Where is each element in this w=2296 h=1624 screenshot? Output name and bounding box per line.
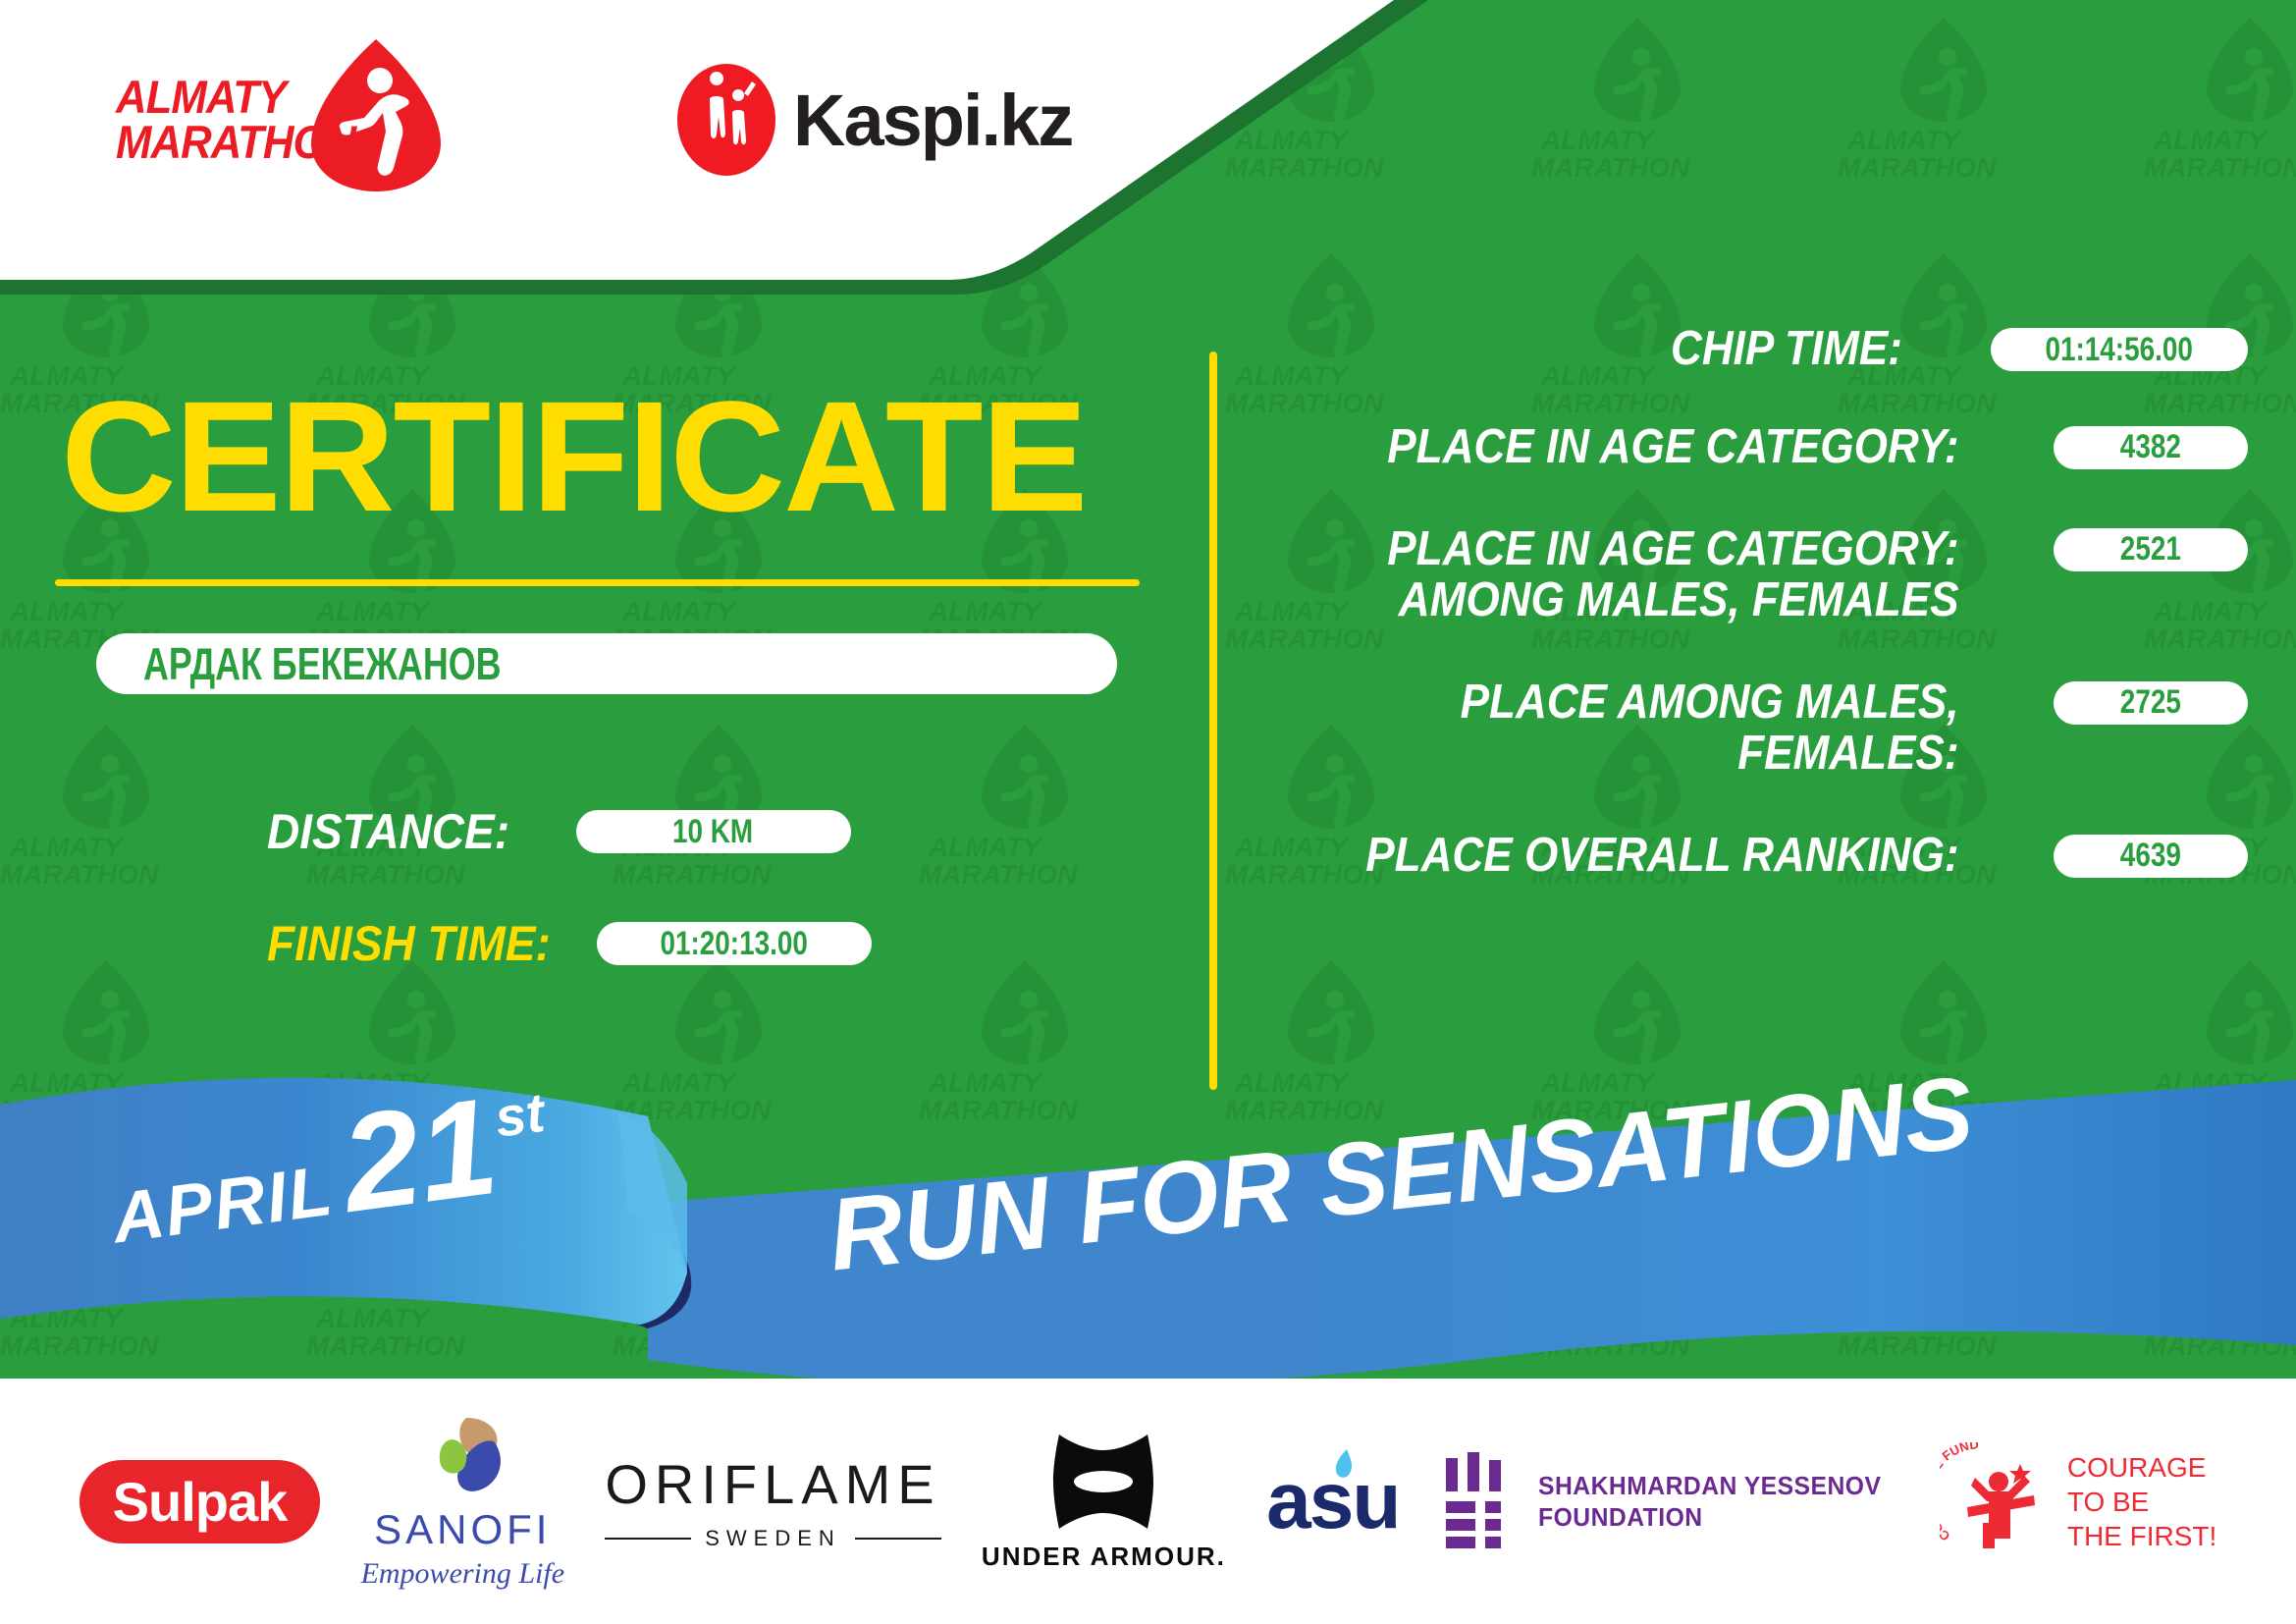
kaspi-wordmark: Kaspi.kz [793, 79, 1072, 162]
oriflame-wordmark: ORIFLAME [605, 1452, 940, 1516]
asu-drop-icon [1331, 1447, 1357, 1487]
asu-wordmark: asu [1266, 1455, 1399, 1547]
certificate-page: ALMATY MARATHON Kaspi.kz CERTIFICATE АРД… [0, 0, 2296, 1624]
sponsor-courage-to-be-the-first: CORPORATE FUND COURAGE TO BE THE FIRST! [1940, 1442, 2216, 1560]
stat-row-chip-time: CHIP TIME: 01:14:56.00 [1266, 324, 2248, 375]
event-day: 21 [335, 1077, 505, 1233]
participant-name-field: АРДАК БЕКЕЖАНОВ [96, 633, 1117, 694]
courage-line2: TO BE [2067, 1485, 2216, 1519]
stat-value: 4639 [2120, 837, 2181, 875]
stat-label: CHIP TIME: [1266, 324, 1902, 375]
kaspi-figure-icon [677, 64, 775, 177]
almaty-line: ALMATY [116, 75, 362, 120]
stat-value-pill: 2521 [2054, 528, 2248, 571]
sponsor-oriflame: ORIFLAME SWEDEN [605, 1452, 940, 1551]
stat-value-pill: 01:14:56.00 [1991, 328, 2248, 371]
stat-label: PLACE AMONG MALES, FEMALES: [1266, 677, 1959, 780]
sanofi-wordmark: SANOFI [374, 1506, 551, 1553]
yessenov-bars-icon [1440, 1452, 1519, 1550]
finish-time-value-pill: 01:20:13.00 [597, 922, 872, 965]
stat-value: 01:14:56.00 [2046, 331, 2193, 369]
courage-line3: THE FIRST! [2067, 1519, 2216, 1553]
participant-name: АРДАК БЕКЕЖАНОВ [143, 637, 502, 690]
event-slogan: RUN FOR SENSATIONS [824, 1055, 1979, 1295]
corporate-fund-arc: CORPORATE FUND [1940, 1442, 1979, 1543]
rule-left [605, 1538, 691, 1540]
sponsor-yessenov-foundation: SHAKHMARDAN YESSENOV FOUNDATION [1440, 1452, 1899, 1550]
sponsor-sulpak: Sulpak [80, 1460, 321, 1543]
courage-runner-icon: CORPORATE FUND [1940, 1442, 2057, 1560]
stat-value-pill: 4382 [2054, 426, 2248, 469]
courage-wordmark: COURAGE TO BE THE FIRST! [2067, 1450, 2216, 1553]
distance-value-pill: 10 KM [576, 810, 851, 853]
marathon-line: MARATHON [116, 120, 362, 165]
finish-time-row: FINISH TIME: 01:20:13.00 [267, 915, 872, 972]
stats-column: CHIP TIME: 01:14:56.00 PLACE IN AGE CATE… [1266, 324, 2248, 882]
distance-value: 10 KM [672, 813, 753, 851]
sponsor-under-armour: UNDER ARMOUR. [982, 1431, 1226, 1572]
almaty-marathon-logo: ALMATY MARATHON [116, 47, 440, 185]
stat-row-place-age-category: PLACE IN AGE CATEGORY: 4382 [1266, 422, 2248, 473]
under-armour-wordmark: UNDER ARMOUR. [982, 1542, 1226, 1572]
stat-row-place-overall-ranking: PLACE OVERALL RANKING: 4639 [1266, 831, 2248, 882]
page-title: CERTIFICATE [61, 378, 1086, 535]
stat-value: 2725 [2120, 683, 2181, 722]
stat-value: 4382 [2120, 428, 2181, 466]
title-divider-rule [55, 579, 1140, 586]
stat-label: PLACE OVERALL RANKING: [1266, 831, 1959, 882]
finish-time-value: 01:20:13.00 [661, 925, 808, 963]
vertical-divider [1209, 352, 1217, 1090]
yessenov-line1: SHAKHMARDAN YESSENOV [1538, 1470, 1881, 1502]
oriflame-sub: SWEDEN [605, 1526, 940, 1551]
courage-line1: COURAGE [2067, 1450, 2216, 1485]
sponsor-asu: asu [1266, 1455, 1399, 1547]
almaty-marathon-wordmark: ALMATY MARATHON [116, 75, 362, 165]
sulpak-wordmark: Sulpak [113, 1470, 288, 1534]
finish-time-label: FINISH TIME: [267, 915, 551, 972]
yessenov-line2: FOUNDATION [1538, 1501, 1881, 1534]
stat-label: PLACE IN AGE CATEGORY: AMONG MALES, FEMA… [1266, 524, 1959, 626]
event-day-suffix: st [491, 1080, 548, 1150]
event-month: APRIL [108, 1151, 339, 1260]
event-date: APRIL 21 st [101, 1069, 566, 1265]
yessenov-wordmark: SHAKHMARDAN YESSENOV FOUNDATION [1538, 1470, 1881, 1534]
distance-row: DISTANCE: 10 KM [267, 803, 851, 860]
rule-right [855, 1538, 941, 1540]
sanofi-tagline: Empowering Life [361, 1557, 565, 1591]
oriflame-sweden-label: SWEDEN [705, 1526, 841, 1551]
kaspi-logo: Kaspi.kz [677, 64, 1072, 177]
stat-value-pill: 2725 [2054, 681, 2248, 725]
stat-row-place-age-category-among: PLACE IN AGE CATEGORY: AMONG MALES, FEMA… [1266, 524, 2248, 626]
stat-row-place-among-males-females: PLACE AMONG MALES, FEMALES: 2725 [1266, 677, 2248, 780]
stat-value-pill: 4639 [2054, 835, 2248, 878]
stat-label: PLACE IN AGE CATEGORY: [1266, 422, 1959, 473]
distance-label: DISTANCE: [267, 803, 509, 860]
stat-value: 2521 [2120, 530, 2181, 568]
under-armour-icon [1030, 1431, 1177, 1534]
sponsor-sanofi: SANOFI Empowering Life [361, 1412, 565, 1591]
svg-text:CORPORATE FUND: CORPORATE FUND [1940, 1442, 1979, 1543]
sanofi-leaf-icon [409, 1412, 515, 1502]
sponsor-bar: Sulpak SANOFI Empowering Life ORIFLAME S… [0, 1379, 2296, 1624]
